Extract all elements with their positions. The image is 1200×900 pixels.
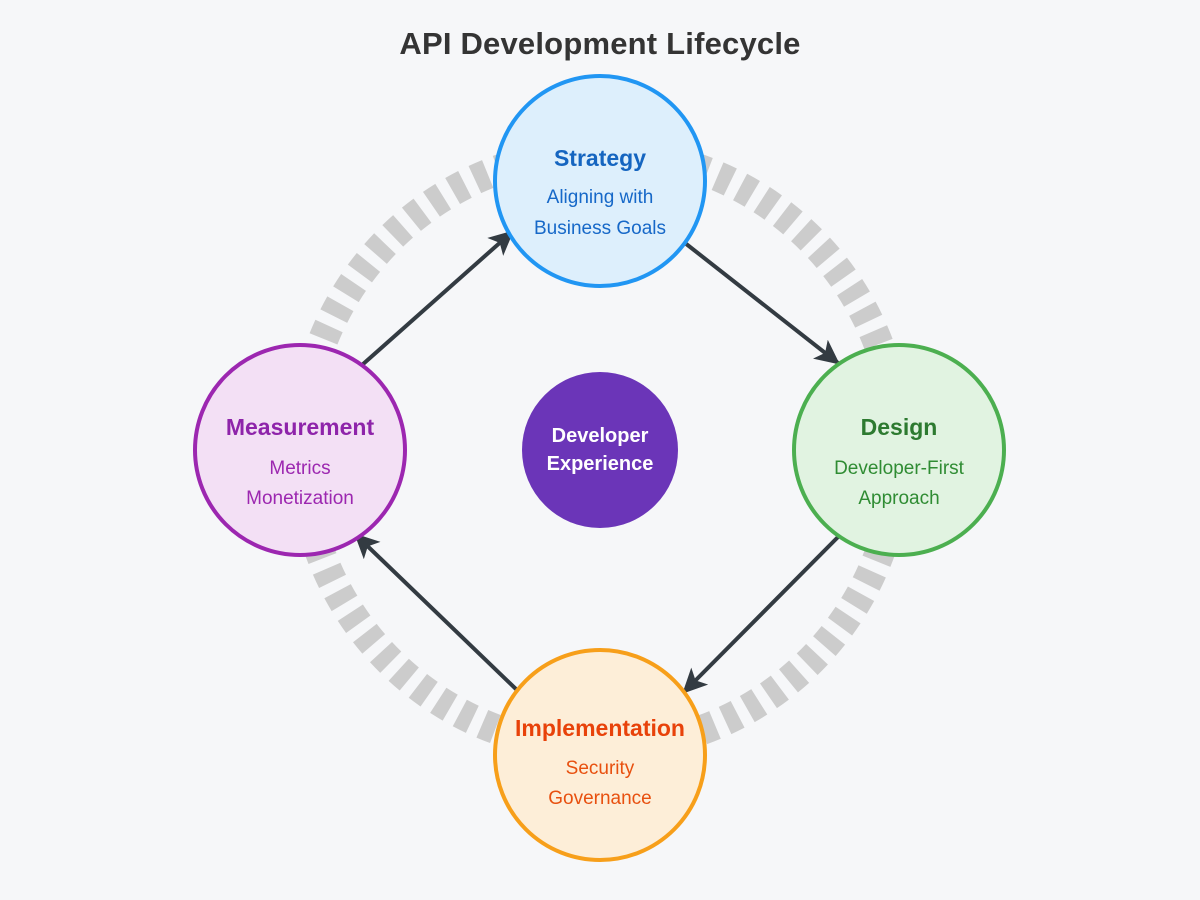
node-measurement[interactable]: Measurement Metrics Monetization [195, 345, 405, 555]
node-measurement-circle[interactable] [195, 345, 405, 555]
node-developer-experience[interactable]: Developer Experience [522, 372, 678, 528]
node-measurement-subline2: Monetization [246, 488, 354, 509]
node-design-circle[interactable] [794, 345, 1004, 555]
node-implementation-circle[interactable] [495, 650, 705, 860]
node-measurement-subline1: Metrics [269, 458, 330, 479]
node-implementation-title: Implementation [515, 715, 685, 741]
node-implementation-subline1: Security [566, 758, 635, 779]
node-strategy-title: Strategy [554, 145, 646, 171]
page-title: API Development Lifecycle [399, 26, 800, 61]
node-strategy-subline1: Aligning with [547, 187, 654, 208]
node-implementation-subline2: Governance [548, 788, 652, 809]
node-strategy-subline2: Business Goals [534, 218, 666, 239]
diagram-canvas: API Development Lifecycle Strategy Align… [0, 0, 1200, 900]
center-label-line1: Developer [552, 425, 649, 447]
api-lifecycle-diagram: API Development Lifecycle Strategy Align… [0, 0, 1200, 900]
node-strategy[interactable]: Strategy Aligning with Business Goals [495, 76, 705, 286]
node-implementation[interactable]: Implementation Security Governance [495, 650, 705, 860]
center-label-line2: Experience [547, 453, 654, 475]
node-design-title: Design [861, 414, 938, 440]
node-design-subline1: Developer-First [834, 458, 965, 479]
node-strategy-circle[interactable] [495, 76, 705, 286]
node-measurement-title: Measurement [226, 414, 375, 440]
node-design[interactable]: Design Developer-First Approach [794, 345, 1004, 555]
node-developer-experience-circle[interactable] [522, 372, 678, 528]
node-design-subline2: Approach [858, 488, 939, 509]
